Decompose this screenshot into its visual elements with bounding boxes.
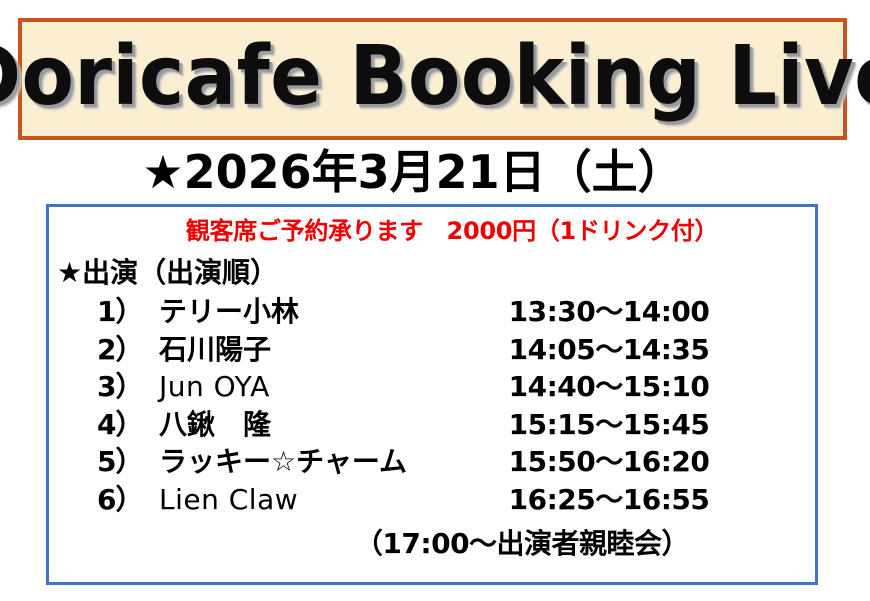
lineup-row: 5） ラッキー☆チャーム 15:50〜16:20 <box>49 443 815 481</box>
lineup-row-time: 14:05〜14:35 <box>459 331 759 369</box>
lineup-row-time: 16:25〜16:55 <box>459 481 759 519</box>
lineup-row-name: Jun OYA <box>159 368 270 406</box>
title-banner: Doricafe Booking Live <box>18 18 847 140</box>
page-title: Doricafe Booking Live <box>0 36 870 122</box>
lineup-row-index: 2） <box>97 331 142 369</box>
lineup-row-name: ラッキー☆チャーム <box>159 443 407 481</box>
lineup-row-time: 13:30〜14:00 <box>459 293 759 331</box>
lineup-row-index: 5） <box>97 443 142 481</box>
event-details-box: 観客席ご予約承ります 2000円（1ドリンク付） ★出演（出演順） 1） テリー… <box>46 204 818 585</box>
lineup-row-time: 15:50〜16:20 <box>459 443 759 481</box>
lineup-row: 4） 八鍬 隆 15:15〜15:45 <box>49 406 815 444</box>
lineup-row-index: 3） <box>97 368 142 406</box>
lineup-row-index: 1） <box>97 293 142 331</box>
lineup-row-index: 6） <box>97 481 142 519</box>
lineup-row: 1） テリー小林 13:30〜14:00 <box>49 293 815 331</box>
lineup-row: 2） 石川陽子 14:05〜14:35 <box>49 331 815 369</box>
lineup-row-name: 八鍬 隆 <box>159 406 271 444</box>
lineup-row-time: 14:40〜15:10 <box>459 368 759 406</box>
lineup-row-name: テリー小林 <box>159 293 299 331</box>
lineup-row: 6） Lien Claw 16:25〜16:55 <box>49 481 815 519</box>
lineup-row-name: Lien Claw <box>159 481 298 519</box>
lineup-row-index: 4） <box>97 406 142 444</box>
reservation-note: 観客席ご予約承ります 2000円（1ドリンク付） <box>49 215 815 247</box>
lineup-row: 3） Jun OYA 14:40〜15:10 <box>49 368 815 406</box>
lineup-heading: ★出演（出演順） <box>57 255 278 291</box>
lineup-row-time: 15:15〜15:45 <box>459 406 759 444</box>
event-date: ★2026年3月21日（土） <box>0 144 870 200</box>
lineup-list: 1） テリー小林 13:30〜14:00 2） 石川陽子 14:05〜14:35… <box>49 293 815 518</box>
afterparty-note: （17:00〜出演者親睦会） <box>49 525 815 562</box>
lineup-row-name: 石川陽子 <box>159 331 271 369</box>
